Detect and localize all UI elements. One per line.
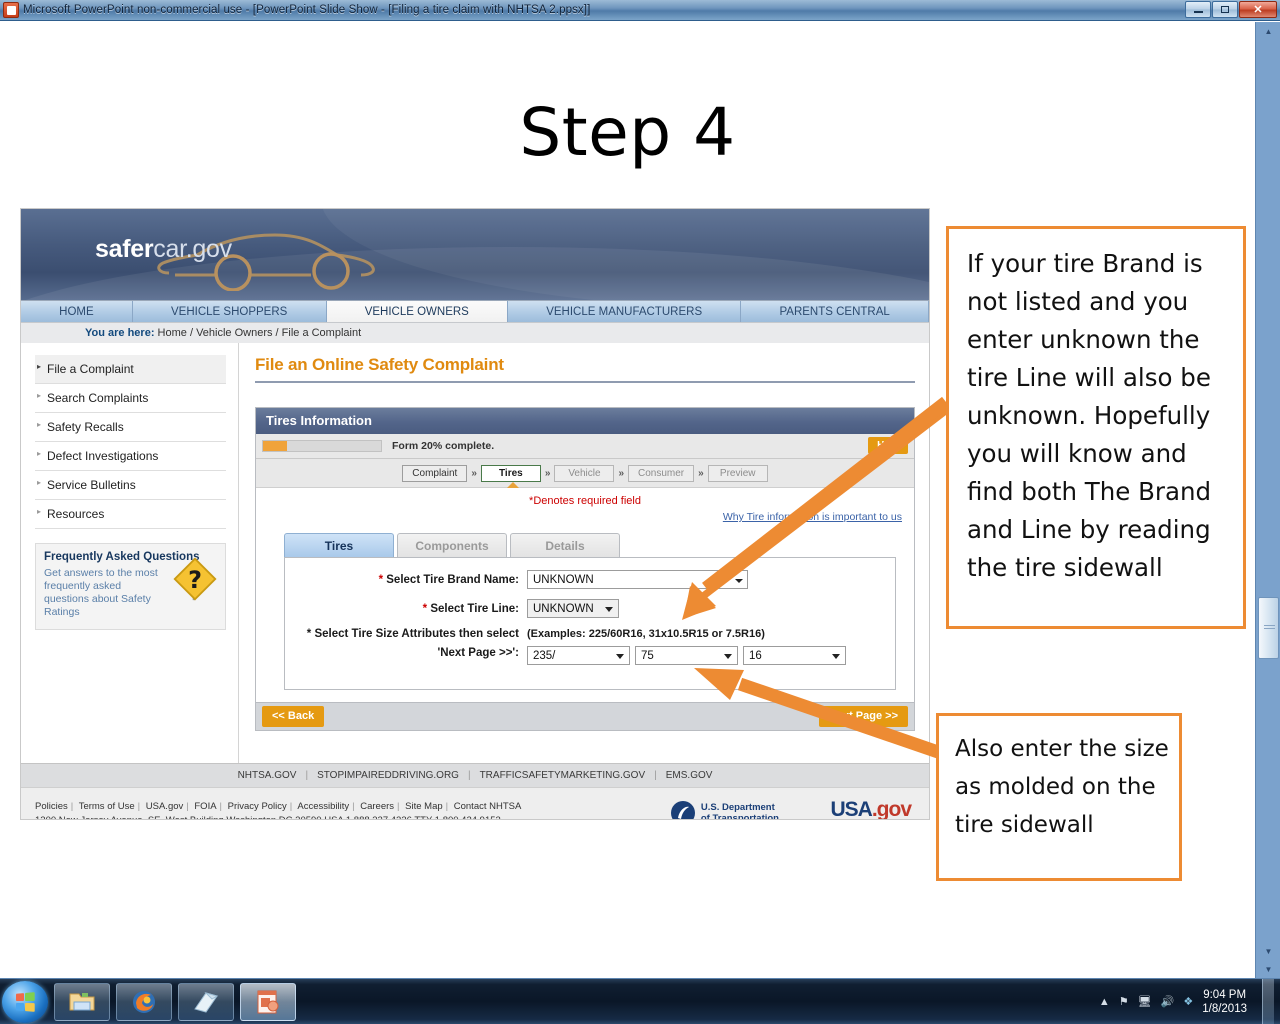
- footer-links-row: Policies| Terms of Use| USA.gov| FOIA| P…: [35, 800, 521, 814]
- footer-link-nhtsa[interactable]: NHTSA.GOV: [238, 770, 297, 781]
- footer-link-contact[interactable]: Contact NHTSA: [454, 801, 522, 812]
- footer-sep-2: |: [468, 770, 471, 781]
- dropbox-icon[interactable]: ❖: [1183, 995, 1193, 1008]
- line-label: * Select Tire Line:: [295, 603, 527, 615]
- usagov-usa-text: USA: [830, 798, 871, 820]
- tire-line-select[interactable]: UNKNOWN: [527, 599, 619, 618]
- nav-item-vehicle-manufacturers[interactable]: VEHICLE MANUFACTURERS: [508, 301, 741, 322]
- network-icon[interactable]: 🖥: [1138, 995, 1152, 1008]
- chevron-down-icon: [735, 579, 743, 583]
- system-tray: ▲ ⚑ 🖥 🔊 ❖ 9:04 PM 1/8/2013: [1099, 979, 1280, 1024]
- sidebar-item-search-complaints[interactable]: Search Complaints: [35, 384, 226, 413]
- footer-agency-links: NHTSA.GOV | STOPIMPAIREDDRIVING.ORG | TR…: [21, 763, 929, 787]
- window-titlebar: Microsoft PowerPoint non-commercial use …: [0, 0, 1280, 21]
- size-row: * Select Tire Size Attributes then selec…: [295, 628, 885, 665]
- taskbar-clock[interactable]: 9:04 PM 1/8/2013: [1202, 988, 1247, 1016]
- site-main: File an Online Safety Complaint Tires In…: [239, 343, 929, 763]
- footer-link-accessibility[interactable]: Accessibility: [297, 801, 349, 812]
- brand-row: * Select Tire Brand Name: UNKNOWN: [295, 570, 885, 589]
- dot-logo: U.S. Department of Transportation: [670, 800, 779, 820]
- footer-link-policies[interactable]: Policies: [35, 801, 68, 812]
- faq-text: Get answers to the most frequently asked…: [44, 567, 164, 619]
- page-title: Step 4: [0, 94, 1255, 171]
- brand-label-text: Select Tire Brand Name:: [386, 574, 519, 586]
- step-separator-2: »: [545, 468, 551, 479]
- sidebar-item-service-bulletins[interactable]: Service Bulletins: [35, 471, 226, 500]
- action-center-flag-icon[interactable]: ⚑: [1119, 995, 1129, 1008]
- site-nav: HOME VEHICLE SHOPPERS VEHICLE OWNERS VEH…: [21, 300, 929, 322]
- step-consumer[interactable]: Consumer: [628, 465, 694, 482]
- sticky-notes-icon: [192, 990, 220, 1014]
- powerpoint-icon: [3, 2, 19, 18]
- volume-icon[interactable]: 🔊: [1161, 995, 1175, 1008]
- size-label-line2: 'Next Page >>':: [295, 647, 519, 659]
- restore-button[interactable]: [1212, 1, 1238, 18]
- breadcrumb-prefix: You are here:: [85, 327, 155, 339]
- close-icon: ✕: [1240, 2, 1276, 17]
- footer-legal-links: Policies| Terms of Use| USA.gov| FOIA| P…: [35, 800, 521, 821]
- window-controls: ✕: [1185, 1, 1277, 18]
- brand-label: * Select Tire Brand Name:: [295, 574, 527, 586]
- why-tire-info-link[interactable]: Why Tire information is important to us: [256, 507, 914, 523]
- usagov-logo: USA.gov Government Made Easy: [830, 798, 911, 820]
- tires-information-panel: Tires Information Form 20% complete. Hel…: [255, 407, 915, 731]
- sidebar-item-defect-investigations[interactable]: Defect Investigations: [35, 442, 226, 471]
- why-tire-info-link-text: Why Tire information is important to us: [723, 511, 902, 523]
- dot-logo-text: U.S. Department of Transportation: [701, 802, 779, 820]
- progress-label: Form 20% complete.: [392, 440, 494, 452]
- size-label-line1: Select Tire Size Attributes then select: [314, 628, 519, 640]
- svg-text:?: ?: [188, 566, 202, 594]
- heading-rule: [255, 381, 915, 383]
- footer-link-privacy[interactable]: Privacy Policy: [228, 801, 287, 812]
- start-button[interactable]: [2, 981, 48, 1023]
- scroll-next-slide-button[interactable]: ▼: [1256, 960, 1280, 978]
- footer-link-ems[interactable]: EMS.GOV: [666, 770, 713, 781]
- tab-components[interactable]: Components: [397, 533, 507, 557]
- scroll-up-button[interactable]: ▲: [1256, 22, 1280, 40]
- step-preview[interactable]: Preview: [708, 465, 768, 482]
- sidebar-item-resources[interactable]: Resources: [35, 500, 226, 529]
- current-step-caret-icon: [507, 482, 519, 488]
- tire-size-ratio-select[interactable]: 75: [635, 646, 738, 665]
- footer-link-careers[interactable]: Careers: [360, 801, 394, 812]
- tire-size-width-value: 235/: [533, 650, 555, 662]
- footer-link-terms[interactable]: Terms of Use: [79, 801, 135, 812]
- step-separator-3: »: [618, 468, 624, 479]
- minimize-button[interactable]: [1185, 1, 1211, 18]
- tab-details[interactable]: Details: [510, 533, 620, 557]
- tire-brand-select[interactable]: UNKNOWN: [527, 570, 748, 589]
- footer-address: 1200 New Jersey Avenue, SE, West Buildin…: [35, 814, 521, 821]
- footer-link-stopimpaireddriving[interactable]: STOPIMPAIREDDRIVING.ORG: [317, 770, 459, 781]
- dot-seal-icon: [670, 800, 696, 820]
- folder-icon: [68, 990, 96, 1014]
- callout-brand-note: If your tire Brand is not listed and you…: [946, 226, 1246, 629]
- callout-brand-text: If your tire Brand is not listed and you…: [967, 245, 1229, 587]
- footer-sep-1: |: [305, 770, 308, 781]
- powerpoint-window: Microsoft PowerPoint non-commercial use …: [0, 0, 1280, 978]
- minimize-icon: [1186, 2, 1210, 17]
- form-tabs: Tires Components Details: [256, 523, 914, 557]
- size-required-asterisk: *: [307, 628, 311, 640]
- chevron-down-icon: [724, 654, 732, 659]
- line-row: * Select Tire Line: UNKNOWN: [295, 599, 885, 618]
- brand-required-asterisk: *: [379, 574, 383, 586]
- back-button[interactable]: << Back: [262, 706, 324, 727]
- footer-sep-3: |: [654, 770, 657, 781]
- size-label-block: * Select Tire Size Attributes then selec…: [295, 628, 527, 659]
- footer-link-trafficsafetymarketing[interactable]: TRAFFICSAFETYMARKETING.GOV: [480, 770, 646, 781]
- scrollbar-grip-icon: [1264, 625, 1275, 631]
- panel-header: Tires Information: [256, 408, 914, 434]
- show-desktop-button[interactable]: [1262, 979, 1274, 1024]
- progress-fill: [263, 441, 287, 451]
- close-button[interactable]: ✕: [1239, 1, 1277, 18]
- step-tires[interactable]: Tires: [481, 465, 541, 482]
- scroll-down-button[interactable]: ▼: [1256, 942, 1280, 960]
- site-banner: safercar.gov: [21, 209, 929, 300]
- progress-row: Form 20% complete. Help: [256, 434, 914, 459]
- usagov-logo-main: USA.gov: [830, 798, 911, 820]
- windows-taskbar: ▲ ⚑ 🖥 🔊 ❖ 9:04 PM 1/8/2013: [0, 978, 1280, 1024]
- tire-size-ratio-value: 75: [641, 650, 654, 662]
- line-required-asterisk: *: [423, 603, 427, 615]
- tire-size-diameter-select[interactable]: 16: [743, 646, 846, 665]
- size-hint: (Examples: 225/60R16, 31x10.5R15 or 7.5R…: [527, 628, 846, 640]
- site-logo[interactable]: safercar.gov: [95, 235, 232, 264]
- form-footer: << Back Next Page >>: [256, 702, 914, 730]
- step-vehicle[interactable]: Vehicle: [554, 465, 614, 482]
- step-breadcrumb: Complaint » Tires » Vehicle » Consumer »…: [256, 459, 914, 488]
- callout-size-note: Also enter the size as molded on the tir…: [936, 713, 1182, 881]
- size-controls: (Examples: 225/60R16, 31x10.5R15 or 7.5R…: [527, 628, 846, 665]
- tab-tires[interactable]: Tires: [284, 533, 394, 557]
- site-logo-bold: safer: [95, 235, 153, 263]
- site-body: File a Complaint Search Complaints Safet…: [21, 343, 929, 763]
- slide-canvas: Step 4 safercar.gov HOME VEHICLE SHOPPER…: [0, 22, 1255, 978]
- scroll-down-group: ▼ ▼: [1256, 942, 1280, 978]
- window-title: Microsoft PowerPoint non-commercial use …: [23, 4, 590, 16]
- chevron-down-icon: [832, 654, 840, 659]
- show-hidden-icons-button[interactable]: ▲: [1099, 996, 1110, 1008]
- chevron-down-icon: [616, 654, 624, 659]
- step-separator-1: »: [471, 468, 477, 479]
- taskbar-item-sticky-notes[interactable]: [178, 983, 234, 1021]
- site-sidebar: File a Complaint Search Complaints Safet…: [21, 343, 239, 763]
- faq-panel[interactable]: Frequently Asked Questions Get answers t…: [35, 543, 226, 630]
- nav-item-home[interactable]: HOME: [21, 301, 133, 322]
- breadcrumb-path[interactable]: Home / Vehicle Owners / File a Complaint: [155, 327, 362, 339]
- sidebar-item-file-a-complaint[interactable]: File a Complaint: [35, 355, 226, 384]
- footer-link-sitemap[interactable]: Site Map: [405, 801, 443, 812]
- footer-bottom: Policies| Terms of Use| USA.gov| FOIA| P…: [21, 787, 929, 820]
- size-select-group: 235/ 75 16: [527, 646, 846, 665]
- page-heading: File an Online Safety Complaint: [255, 355, 915, 375]
- powerpoint-icon: [255, 989, 281, 1015]
- vertical-scrollbar[interactable]: ▲ ▼ ▼: [1255, 22, 1280, 978]
- clock-time: 9:04 PM: [1202, 988, 1247, 1002]
- tire-size-diameter-value: 16: [749, 650, 762, 662]
- restore-icon: [1213, 2, 1237, 17]
- taskbar-item-powerpoint[interactable]: [240, 983, 296, 1021]
- tire-brand-value: UNKNOWN: [533, 574, 594, 586]
- progress-bar: [262, 440, 382, 452]
- nav-item-parents-central[interactable]: PARENTS CENTRAL: [741, 301, 929, 322]
- scrollbar-thumb[interactable]: [1258, 597, 1279, 659]
- breadcrumb: You are here: Home / Vehicle Owners / Fi…: [21, 322, 929, 343]
- footer-link-usagov[interactable]: USA.gov: [146, 801, 184, 812]
- windows-logo-icon: [16, 992, 35, 1012]
- help-button[interactable]: Help: [868, 437, 908, 454]
- dot-line-1: U.S. Department: [701, 802, 779, 813]
- sidebar-item-safety-recalls[interactable]: Safety Recalls: [35, 413, 226, 442]
- firefox-icon: [131, 989, 157, 1015]
- nav-item-vehicle-shoppers[interactable]: VEHICLE SHOPPERS: [133, 301, 327, 322]
- tire-line-value: UNKNOWN: [533, 603, 594, 615]
- line-label-text: Select Tire Line:: [430, 603, 519, 615]
- footer-link-foia[interactable]: FOIA: [194, 801, 216, 812]
- required-note-text: Denotes required field: [533, 495, 641, 507]
- dot-line-2: of Transportation: [701, 813, 779, 820]
- chevron-down-icon: [605, 607, 613, 612]
- next-page-button[interactable]: Next Page >>: [819, 706, 908, 727]
- tire-size-width-select[interactable]: 235/: [527, 646, 630, 665]
- site-logo-rest: car.gov: [153, 235, 232, 263]
- nav-item-vehicle-owners[interactable]: VEHICLE OWNERS: [327, 301, 509, 322]
- callout-size-text: Also enter the size as molded on the tir…: [955, 730, 1169, 844]
- clock-date: 1/8/2013: [1202, 1002, 1247, 1016]
- usagov-gov-text: .gov: [872, 798, 911, 820]
- tires-form: * Select Tire Brand Name: UNKNOWN: [284, 557, 896, 690]
- step-complaint[interactable]: Complaint: [402, 465, 467, 482]
- step-separator-4: »: [698, 468, 704, 479]
- safercar-screenshot: safercar.gov HOME VEHICLE SHOPPERS VEHIC…: [20, 208, 930, 820]
- taskbar-item-firefox[interactable]: [116, 983, 172, 1021]
- required-field-note: *Denotes required field: [256, 488, 914, 507]
- question-sign-icon: ?: [172, 556, 218, 602]
- taskbar-item-windows-explorer[interactable]: [54, 983, 110, 1021]
